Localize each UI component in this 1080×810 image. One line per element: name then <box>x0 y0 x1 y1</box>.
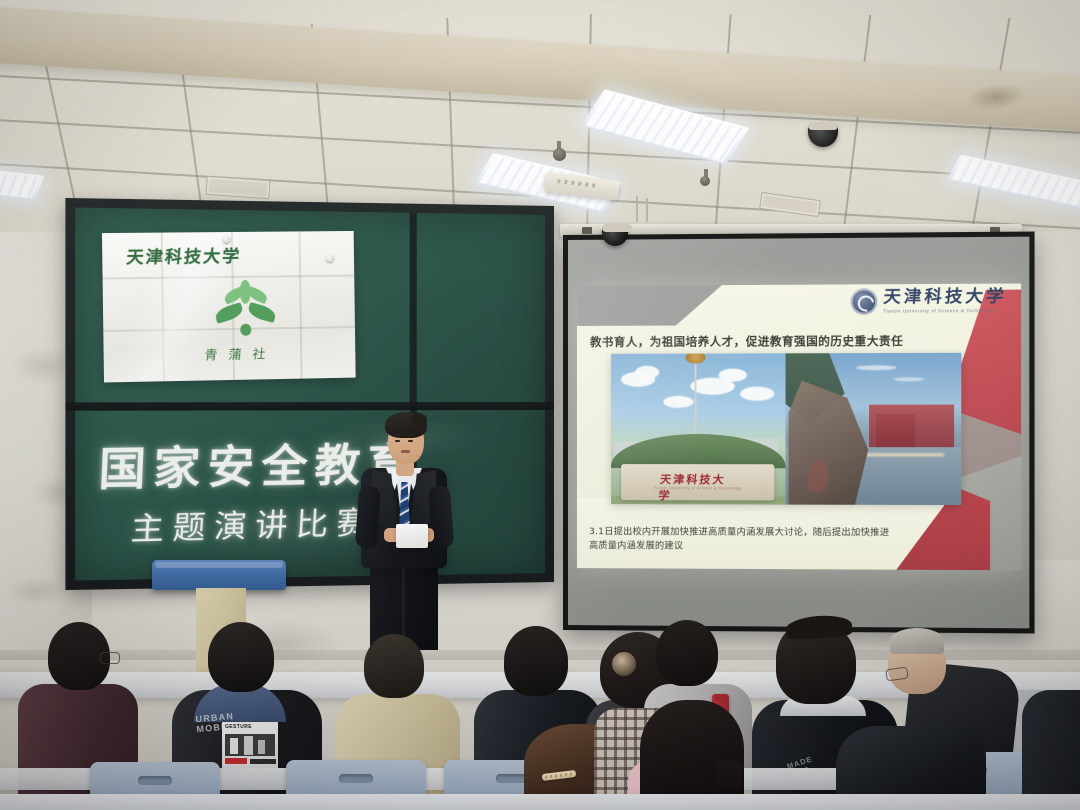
flagpole <box>694 360 696 430</box>
university-seal-icon <box>851 288 878 314</box>
hair-bun <box>612 652 636 676</box>
slide-photo-pair: 天津科技大学 Tianjin University of Science & T… <box>611 353 961 505</box>
classroom-scene: 国家安全教育 主题演讲比赛 天津科技大学 青蒲社 <box>0 0 1080 810</box>
speaker-arm-left <box>355 485 381 548</box>
campus-waterfront-photo <box>785 353 961 505</box>
slide-logo-cn: 天津科技大学 <box>883 289 1008 307</box>
banner-university-name: 天津科技大学 <box>125 242 242 268</box>
chalkboard-mid-rail <box>65 402 554 411</box>
slide-logo-en: Tianjin University of Science & Technolo… <box>883 308 1006 314</box>
projection-screen: 天津科技大学 Tianjin University of Science & T… <box>563 232 1035 634</box>
grey-hair <box>890 628 944 654</box>
fire-sprinkler-icon <box>700 176 710 186</box>
campus-gate-photo: 天津科技大学 Tianjin University of Science & T… <box>611 353 785 504</box>
club-banner: 天津科技大学 青蒲社 <box>102 231 356 383</box>
green-sprout-logo-icon <box>214 279 277 336</box>
stone-inscription-en: Tianjin University of Science & Technolo… <box>654 486 742 490</box>
speaker-hair <box>385 412 427 438</box>
banner-club-name: 青蒲社 <box>204 343 278 363</box>
jacket-graphic-print: GESTURE <box>222 722 278 768</box>
slide-caption: 3.1日提出校内开展加快推进高质量内涵发展大讨论，随后提出加快推进高质量内涵发展… <box>589 525 893 553</box>
eyeglasses-icon <box>100 652 120 664</box>
suspended-ceiling <box>0 0 1080 232</box>
speaker-mouth <box>401 450 410 453</box>
red-building-secondary <box>876 414 915 450</box>
blue-chalk-tray <box>152 560 286 590</box>
fire-sprinkler-icon <box>553 148 566 161</box>
slide-heading: 教书育人，为祖国培养人才，促进教育强国的历史重大责任 <box>590 333 903 350</box>
ceiling-hanger-rod <box>646 198 648 222</box>
chalkboard-subheading: 主题演讲比赛 <box>130 497 378 550</box>
slide-university-logo: 天津科技大学 Tianjin University of Science & T… <box>851 288 1007 315</box>
presentation-slide: 天津科技大学 Tianjin University of Science & T… <box>577 283 1021 570</box>
desk-foreground-edge <box>0 794 1080 810</box>
ceiling-hanger-rod <box>636 196 638 222</box>
speech-cue-cards <box>396 524 428 548</box>
campus-entrance-stone: 天津科技大学 Tianjin University of Science & T… <box>621 464 774 500</box>
jacket-print-label: GESTURE <box>225 724 252 730</box>
